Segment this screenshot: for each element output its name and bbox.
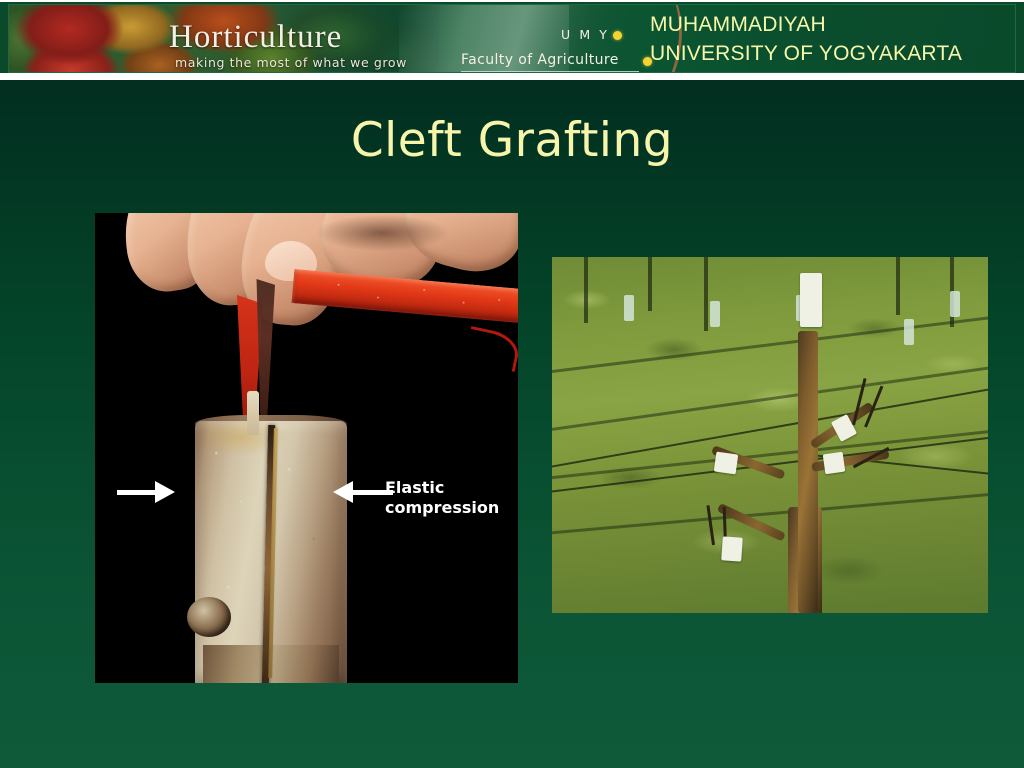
page-title: Cleft Grafting (0, 113, 1024, 168)
grafted-orchard-tree-photo (552, 257, 988, 613)
graft-tape-wrap (823, 452, 846, 475)
background-graft-wrap (904, 319, 914, 345)
scion-wedge (247, 391, 259, 435)
elastic-compression-caption: Elastic compression (385, 478, 499, 517)
hand-shadow (317, 215, 447, 251)
red-wire-loop (464, 326, 518, 372)
background-tree (704, 257, 708, 331)
umy-underline-rule (461, 71, 639, 72)
arrow-left-pointing-icon (333, 481, 353, 503)
background-tree (896, 257, 900, 315)
cleft-graft-closeup-photo: Elastic compression (95, 213, 518, 683)
caption-line-1: Elastic (385, 478, 499, 498)
tree-trunk (798, 331, 818, 613)
background-graft-wrap (624, 295, 634, 321)
horticulture-tagline-text: making the most of what we grow (175, 55, 407, 70)
graft-tape-wrap (800, 273, 822, 327)
background-tree (584, 257, 588, 323)
left-arrow-shaft (117, 490, 157, 495)
university-name-line1: MUHAMMADIYAH (650, 13, 826, 37)
background-tree (648, 257, 652, 311)
background-graft-wrap (710, 301, 720, 327)
scion-shoot (706, 505, 715, 545)
umy-acronym-text: U M Y (561, 27, 610, 42)
branch-knot-nub (187, 597, 231, 637)
orchard-row-line (552, 311, 988, 377)
banner-separator-rule (0, 73, 1024, 80)
slide-canvas: Horticulture making the most of what we … (0, 0, 1024, 768)
arrow-right-pointing-icon (155, 481, 175, 503)
caption-line-2: compression (385, 498, 499, 518)
header-banner: Horticulture making the most of what we … (0, 0, 1024, 73)
graft-tape-wrap (714, 452, 739, 475)
graft-tape-wrap (721, 536, 743, 561)
orchard-row-line (552, 361, 988, 436)
umy-faculty-text: Faculty of Agriculture (461, 52, 619, 68)
university-name-line2: UNIVERSITY OF YOGYAKARTA (650, 42, 962, 66)
umy-dot-upper-icon (613, 31, 622, 40)
background-graft-wrap (950, 291, 960, 317)
horticulture-brand-text: Horticulture (169, 19, 342, 56)
header-banner-inner: Horticulture making the most of what we … (8, 4, 1016, 73)
